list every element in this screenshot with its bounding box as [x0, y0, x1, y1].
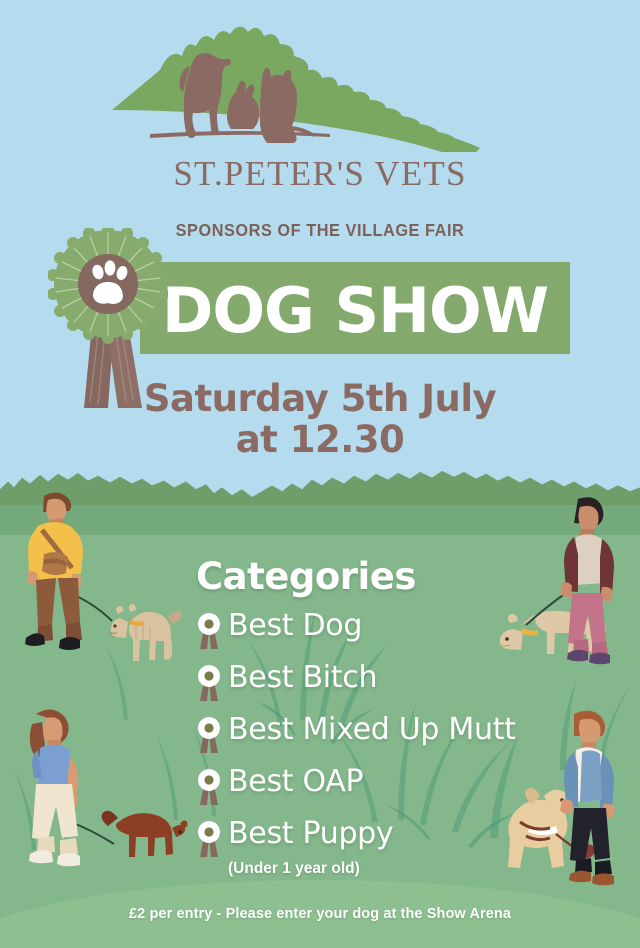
mini-rosette-bullet-icon [196, 611, 222, 653]
category-label: Best OAP [228, 764, 363, 799]
event-date-line-2: at 12.30 [0, 419, 640, 460]
categories-list: Best Dog Best Bitch Best Mixed Up Mutt [196, 608, 596, 868]
categories-heading: Categories [196, 555, 416, 598]
list-item: Best Dog [196, 608, 596, 660]
brand-name: ST.PETER'S VETS [0, 154, 640, 194]
list-item: Best Mixed Up Mutt [196, 712, 596, 764]
mini-rosette-bullet-icon [196, 819, 222, 861]
grass-shadow-band [0, 505, 640, 535]
mini-rosette-bullet-icon [196, 767, 222, 809]
mini-rosette-bullet-icon [196, 715, 222, 757]
category-label: Best Bitch [228, 660, 377, 695]
category-label: Best Dog [228, 608, 362, 643]
mini-rosette-bullet-icon [196, 663, 222, 705]
category-label: Best Puppy [228, 816, 393, 851]
event-title: DOG SHOW [140, 264, 570, 356]
categories-note: (Under 1 year old) [228, 860, 360, 878]
dog-show-poster: ST.PETER'S VETS SPONSORS OF THE VILLAGE … [0, 0, 640, 948]
event-date-line-1: Saturday 5th July [144, 377, 496, 420]
list-item: Best Bitch [196, 660, 596, 712]
entry-info-footer: £2 per entry - Please enter your dog at … [0, 906, 640, 922]
category-label: Best Mixed Up Mutt [228, 712, 516, 747]
brand-logo: ST.PETER'S VETS [0, 22, 640, 182]
event-date: Saturday 5th July at 12.30 [0, 378, 640, 461]
list-item: Best OAP [196, 764, 596, 816]
